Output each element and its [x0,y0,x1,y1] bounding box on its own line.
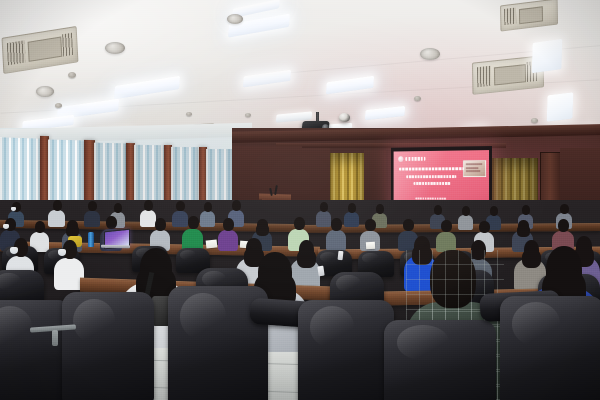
ceiling-speaker [227,14,243,24]
attendee [182,216,203,250]
attendee [436,220,456,251]
seat[interactable] [500,296,600,400]
security-camera-icon [339,113,350,122]
logo-emblem-icon [398,156,403,162]
ceiling-light [532,39,563,74]
slide-university-logo [398,155,425,162]
smoke-detector [186,112,192,116]
water-bottle [88,232,94,247]
seat-pedestal [52,330,58,346]
attendee [218,218,238,250]
smoke-detector [68,72,76,78]
seat[interactable] [384,320,496,400]
seat[interactable] [298,300,394,400]
logo-wordmark [405,156,426,160]
attendee [326,218,346,250]
lecture-hall-photo [0,0,600,400]
attendee [84,201,100,226]
ceiling-speaker [105,42,125,54]
handout [206,239,218,248]
attendee [458,206,473,228]
attendee [344,203,359,226]
smoke-detector [55,103,62,108]
smoke-detector [414,96,421,101]
smoke-detector [531,118,538,123]
ceiling-light [547,92,574,121]
smartphone[interactable] [338,251,344,260]
smartphone[interactable] [317,266,324,277]
handout [366,242,375,249]
seat[interactable] [62,292,154,400]
ceiling-speaker [36,86,54,97]
smoke-detector [245,113,251,117]
ceiling-speaker [420,48,440,60]
slide-thumbnail-image [463,160,486,177]
